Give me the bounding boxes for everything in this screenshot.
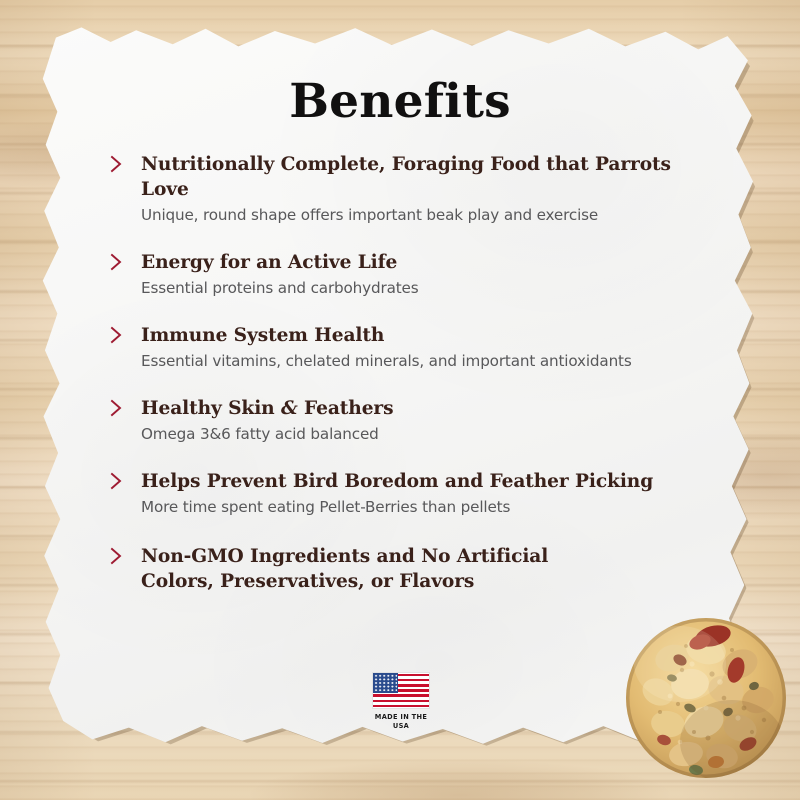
chevron-right-icon [108, 398, 125, 418]
benefit-heading: Energy for an Active Life [141, 250, 718, 275]
made-in-usa-badge: MADE IN THE USA [370, 672, 432, 730]
flag-canton [373, 673, 398, 693]
list-item: Non-GMO Ingredients and No Artificial Co… [108, 544, 718, 594]
benefit-subtext: Unique, round shape offers important bea… [141, 205, 718, 226]
usa-flag-icon [372, 672, 430, 709]
list-item: Immune System Health Essential vitamins,… [108, 323, 718, 372]
benefit-subtext: More time spent eating Pellet-Berries th… [141, 497, 718, 518]
chevron-right-icon [108, 546, 125, 566]
benefit-subtext: Omega 3&6 fatty acid balanced [141, 424, 718, 445]
page-title: Benefits [0, 74, 800, 129]
benefit-heading: Non-GMO Ingredients and No Artificial Co… [141, 544, 621, 594]
benefit-heading: Healthy Skin & Feathers [141, 396, 718, 421]
benefit-subtext: Essential proteins and carbohydrates [141, 278, 718, 299]
benefit-heading: Nutritionally Complete, Foraging Food th… [141, 152, 718, 202]
benefit-subtext: Essential vitamins, chelated minerals, a… [141, 351, 718, 372]
list-item: Energy for an Active Life Essential prot… [108, 250, 718, 299]
benefits-infographic: Benefits Nutritionally Complete, Foragin… [0, 0, 800, 800]
chevron-right-icon [108, 471, 125, 491]
chevron-right-icon [108, 252, 125, 272]
chevron-right-icon [108, 325, 125, 345]
list-item: Healthy Skin & Feathers Omega 3&6 fatty … [108, 396, 718, 445]
list-item: Helps Prevent Bird Boredom and Feather P… [108, 469, 718, 518]
badge-caption: MADE IN THE USA [372, 712, 429, 730]
pellet-berry-food-ball [620, 612, 792, 784]
benefit-heading: Helps Prevent Bird Boredom and Feather P… [141, 469, 718, 494]
benefit-heading: Immune System Health [141, 323, 718, 348]
flag-stars [374, 674, 397, 692]
list-item: Nutritionally Complete, Foraging Food th… [108, 152, 718, 226]
chevron-right-icon [108, 154, 125, 174]
benefits-list: Nutritionally Complete, Foraging Food th… [108, 152, 718, 597]
